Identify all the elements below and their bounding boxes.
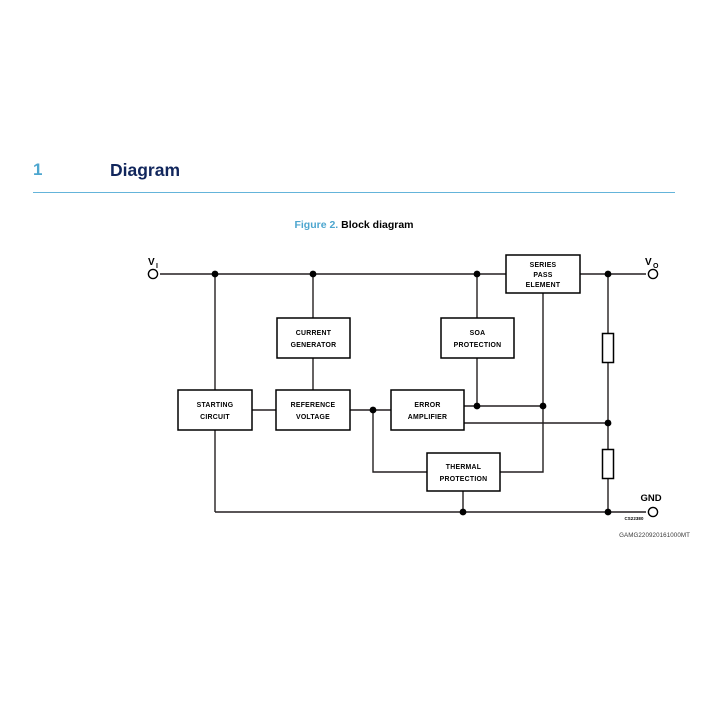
terminal-vin[interactable]: V I xyxy=(148,257,158,279)
block-error-amplifier-line-2: AMPLIFIER xyxy=(408,414,447,421)
terminal-vin-circle[interactable] xyxy=(148,269,157,278)
block-thermal-protection-line-1: THERMAL xyxy=(446,464,481,471)
block-diagram-container: STARTING CIRCUIT REFERENCE VOLTAGE CURRE… xyxy=(0,0,708,708)
junction-dot-vout-tap xyxy=(605,271,612,278)
terminal-vout-circle[interactable] xyxy=(648,269,657,278)
block-starting-circuit-rect[interactable] xyxy=(178,390,252,430)
block-current-generator-line-2: GENERATOR xyxy=(291,342,337,349)
terminal-vout-label: V xyxy=(645,257,652,268)
lower-divider-resistor xyxy=(603,450,614,479)
block-series-pass-element-line-3: ELEMENT xyxy=(526,282,561,289)
block-soa-protection-rect[interactable] xyxy=(441,318,514,358)
junction-dot-pass-drive xyxy=(540,403,547,410)
block-starting-circuit-line-1: STARTING xyxy=(197,402,234,409)
block-reference-voltage-rect[interactable] xyxy=(276,390,350,430)
terminal-vin-subscript: I xyxy=(156,263,158,270)
terminal-gnd-circle[interactable] xyxy=(648,507,657,516)
block-series-pass-element-line-1: SERIES xyxy=(530,262,557,269)
block-starting-circuit-line-2: CIRCUIT xyxy=(200,414,230,421)
block-diagram: STARTING CIRCUIT REFERENCE VOLTAGE CURRE… xyxy=(0,0,708,708)
terminal-vout-subscript: O xyxy=(653,263,659,270)
junction-dot-current-gen-tap xyxy=(310,271,317,278)
block-current-generator[interactable]: CURRENT GENERATOR xyxy=(277,318,350,358)
block-thermal-protection[interactable]: THERMAL PROTECTION xyxy=(427,453,500,491)
diagram-code: CS22380 xyxy=(624,516,643,521)
block-reference-voltage-line-1: REFERENCE xyxy=(291,402,336,409)
footer-document-code: GAMG220920161000MT xyxy=(560,532,690,539)
block-soa-protection-line-1: SOA xyxy=(470,330,486,337)
block-series-pass-element-line-2: PASS xyxy=(533,272,552,279)
block-current-generator-rect[interactable] xyxy=(277,318,350,358)
block-soa-protection[interactable]: SOA PROTECTION xyxy=(441,318,514,358)
upper-divider-resistor xyxy=(603,334,614,363)
junction-dot-soa-feedback xyxy=(474,403,481,410)
terminal-vin-label: V xyxy=(148,257,155,268)
wire-drive-node-to-thermal-protection xyxy=(500,406,543,472)
terminal-gnd-label: GND xyxy=(640,493,661,504)
block-soa-protection-line-2: PROTECTION xyxy=(454,342,502,349)
junction-dot-divider-midpoint xyxy=(605,420,612,427)
functional-blocks: STARTING CIRCUIT REFERENCE VOLTAGE CURRE… xyxy=(178,255,580,491)
block-error-amplifier[interactable]: ERROR AMPLIFIER xyxy=(391,390,464,430)
terminal-vout[interactable]: V O xyxy=(645,257,659,279)
junction-dot-vin-branch xyxy=(212,271,219,278)
junction-dot-gnd-node xyxy=(605,509,612,516)
block-error-amplifier-line-1: ERROR xyxy=(414,402,440,409)
junction-dot-refv-branch xyxy=(370,407,377,414)
block-starting-circuit[interactable]: STARTING CIRCUIT xyxy=(178,390,252,430)
junction-dot-thermal-ground xyxy=(460,509,467,516)
terminals: V I V O GND xyxy=(148,257,662,517)
block-thermal-protection-rect[interactable] xyxy=(427,453,500,491)
junction-dot-soa-tap xyxy=(474,271,481,278)
block-thermal-protection-line-2: PROTECTION xyxy=(440,476,488,483)
block-series-pass-element[interactable]: SERIES PASS ELEMENT xyxy=(506,255,580,293)
block-reference-voltage-line-2: VOLTAGE xyxy=(296,414,330,421)
block-error-amplifier-rect[interactable] xyxy=(391,390,464,430)
block-reference-voltage[interactable]: REFERENCE VOLTAGE xyxy=(276,390,350,430)
terminal-gnd[interactable]: GND xyxy=(640,493,661,517)
block-current-generator-line-1: CURRENT xyxy=(296,330,332,337)
